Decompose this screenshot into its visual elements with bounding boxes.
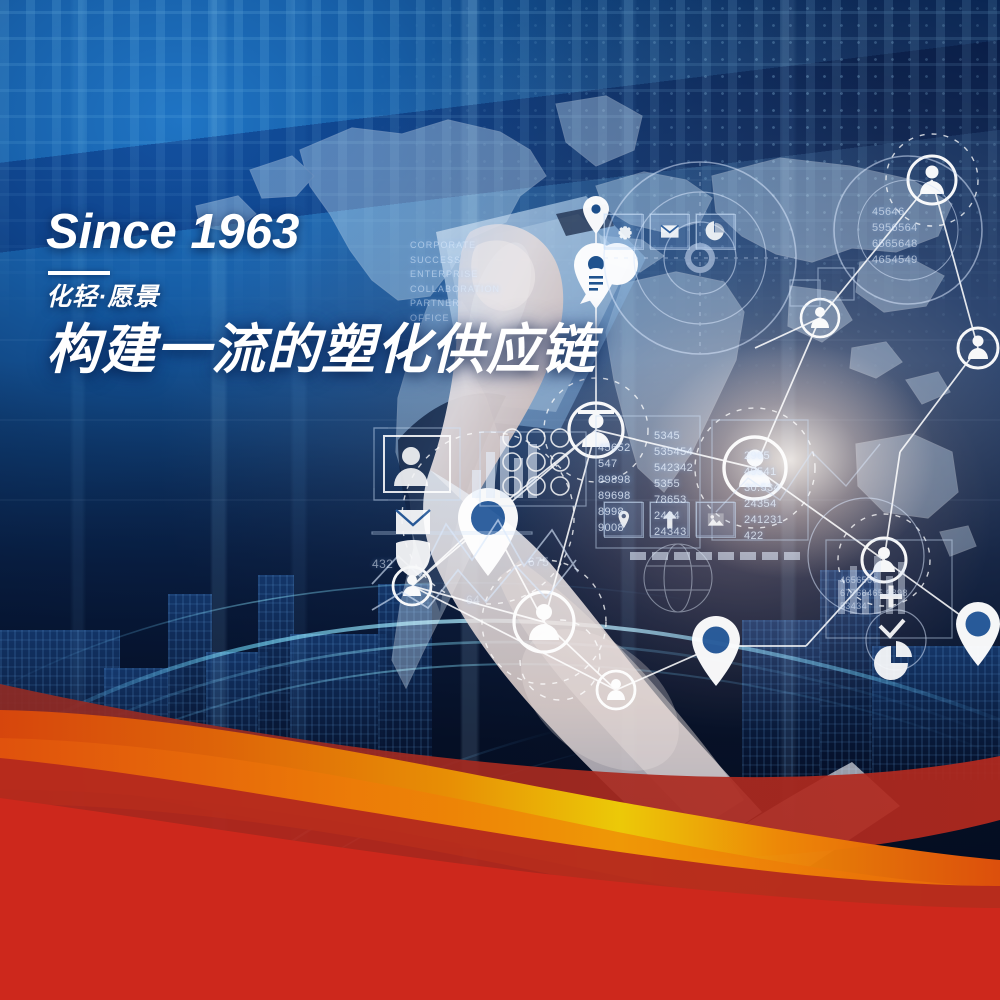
line-chart-icon (716, 444, 880, 512)
hero-text-block: Since 1963 化轻·愿景 构建一流的塑化供应链 (46, 208, 596, 379)
progress-strip (630, 552, 800, 560)
page-title: 构建一流的塑化供应链 (46, 321, 596, 379)
envelope-icon (658, 221, 682, 242)
pie-chart-icon-tile (696, 214, 736, 250)
check-icon (880, 620, 904, 636)
small-value-432: 432 (372, 556, 393, 572)
pie-chart-icon (704, 221, 728, 242)
gear-icon (612, 221, 636, 242)
image-icon-tile (696, 502, 736, 538)
map-pin-icon (956, 602, 1000, 666)
subtitle: 化轻·愿景 (46, 283, 596, 312)
envelope-icon (396, 510, 430, 534)
id-card-icon (384, 436, 450, 492)
hero-banner: CORPORATE SUCCESS ENTERPRISE COLLABORATI… (0, 0, 1000, 1000)
numbers-topright: 45646 5956564 6565648 4654549 (872, 204, 918, 268)
node-person (958, 328, 998, 368)
divider-rule (48, 271, 110, 275)
small-value-64: 64 (466, 592, 480, 608)
numbers-right: 2965 49541 30.534 24354 241231 422 (744, 448, 783, 544)
numbers-bottomright: 4656566 67768465 9898 53434 (840, 574, 908, 613)
since-label: Since 1963 (46, 208, 596, 257)
envelope-icon-tile (650, 214, 690, 250)
gear-icon-tile (604, 214, 644, 250)
numbers-mid: 5345 535454 542342 5355 78653 2424 24343 (654, 428, 693, 540)
small-value-675: 675 (528, 554, 549, 570)
image-icon (704, 509, 728, 530)
ribbon-waves (0, 670, 1000, 1000)
numbers-left: 45652 547 89898 89698 8998 9008 (598, 440, 631, 536)
